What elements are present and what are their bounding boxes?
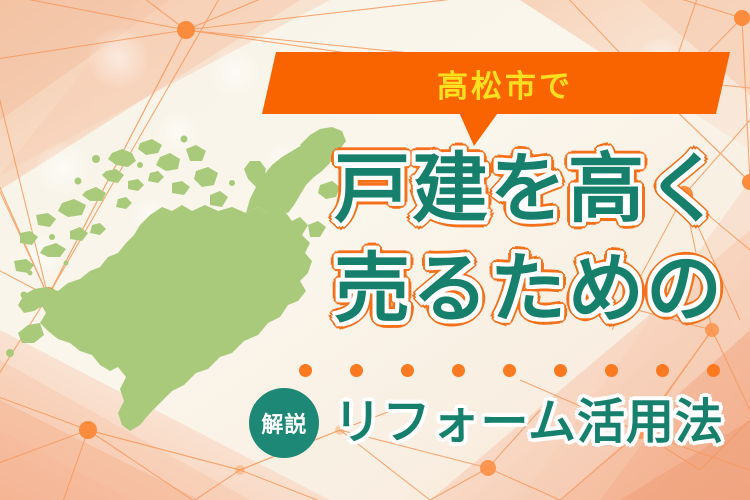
- badge-label: 解説: [261, 407, 307, 439]
- thumbnail-canvas: 高松市で 戸建を高く 売るための 解説 リフォーム活用法: [0, 0, 750, 500]
- separator-dot: [554, 364, 567, 377]
- explanation-badge: 解説: [249, 388, 319, 458]
- headline-line-2: 売るための: [334, 252, 724, 328]
- separator-dot: [452, 364, 465, 377]
- separator-dot: [401, 364, 414, 377]
- separator-dot: [605, 364, 618, 377]
- headline-text-2: 売るための: [334, 252, 724, 328]
- subtitle-text: リフォーム活用法: [333, 399, 724, 447]
- separator-dot: [350, 364, 363, 377]
- separator-dot: [299, 364, 312, 377]
- dot-separator: [299, 364, 720, 377]
- headline-line-1: 戸建を高く: [334, 152, 724, 228]
- ribbon-banner: 高松市で: [262, 52, 730, 114]
- separator-dot: [503, 364, 516, 377]
- headline-text-1: 戸建を高く: [334, 152, 724, 228]
- banner-label: 高松市で: [262, 52, 730, 114]
- separator-dot: [656, 364, 669, 377]
- bottom-row: 解説 リフォーム活用法: [249, 388, 724, 458]
- separator-dot: [707, 364, 720, 377]
